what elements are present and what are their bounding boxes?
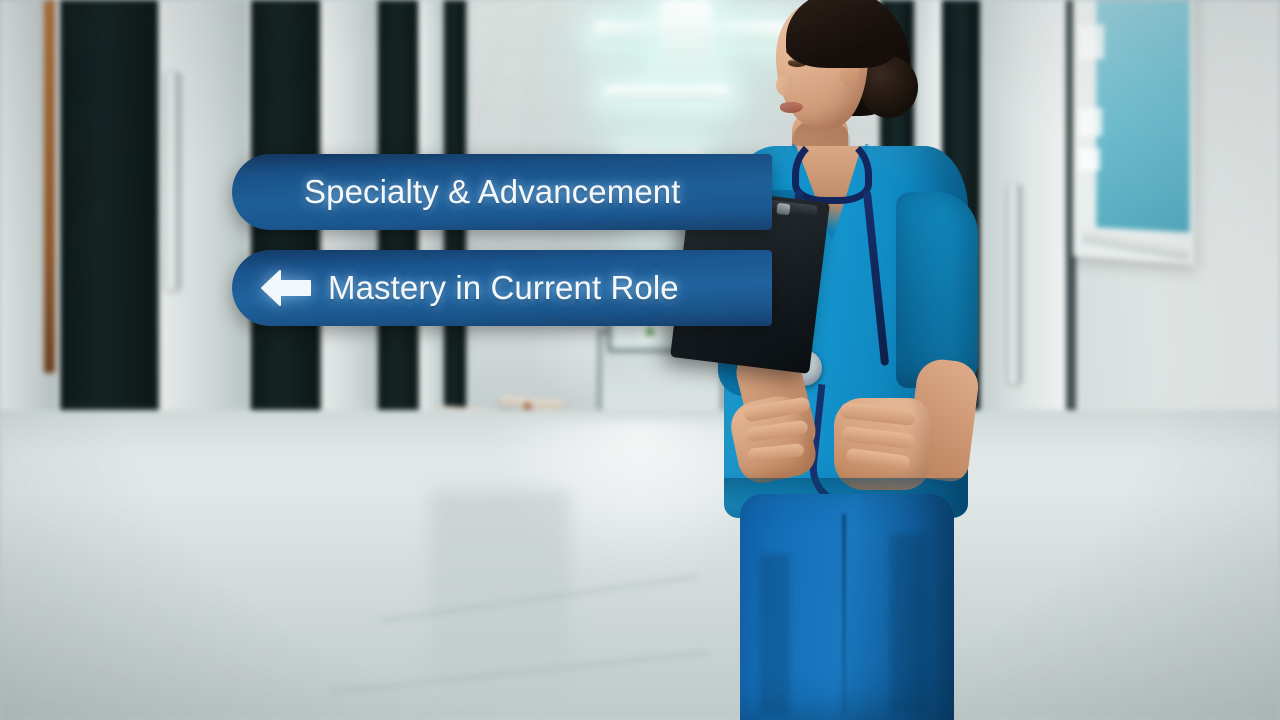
nurse-pant-seam: [842, 514, 846, 714]
notice-paper-2: [1079, 108, 1103, 136]
sign-mastery-current-role[interactable]: Mastery in Current Role: [232, 250, 772, 326]
notice-board: [1073, 0, 1194, 265]
nurse-pant-fold-1: [760, 554, 790, 714]
notice-board-inner: [1096, 0, 1194, 233]
clipboard-rivet-right: [776, 203, 790, 216]
floor: [0, 410, 1280, 720]
door-handle-icon-1[interactable]: [165, 72, 180, 290]
sign-specialty-advancement-label: Specialty & Advancement: [304, 173, 681, 211]
nurse-sleeve-right: [896, 192, 978, 388]
scene-root: Specialty & Advancement Mastery in Curre…: [0, 0, 1280, 720]
floor-reflection-left: [430, 490, 570, 720]
nurse-figure: [700, 0, 1030, 720]
corridor-background: [0, 0, 1280, 720]
nurse-hair-front: [786, 0, 898, 68]
wood-trim-strip: [44, 0, 55, 373]
ceiling-light-5: [636, 232, 678, 238]
sign-specialty-advancement[interactable]: Specialty & Advancement: [232, 154, 772, 230]
nurse-pant-fold-2: [890, 534, 926, 714]
notice-paper-3: [1079, 148, 1101, 171]
sign-mastery-current-role-label: Mastery in Current Role: [328, 269, 679, 307]
arrow-left-icon: [260, 266, 312, 310]
notice-paper-1: [1079, 24, 1105, 60]
nurse-nose: [776, 76, 792, 96]
